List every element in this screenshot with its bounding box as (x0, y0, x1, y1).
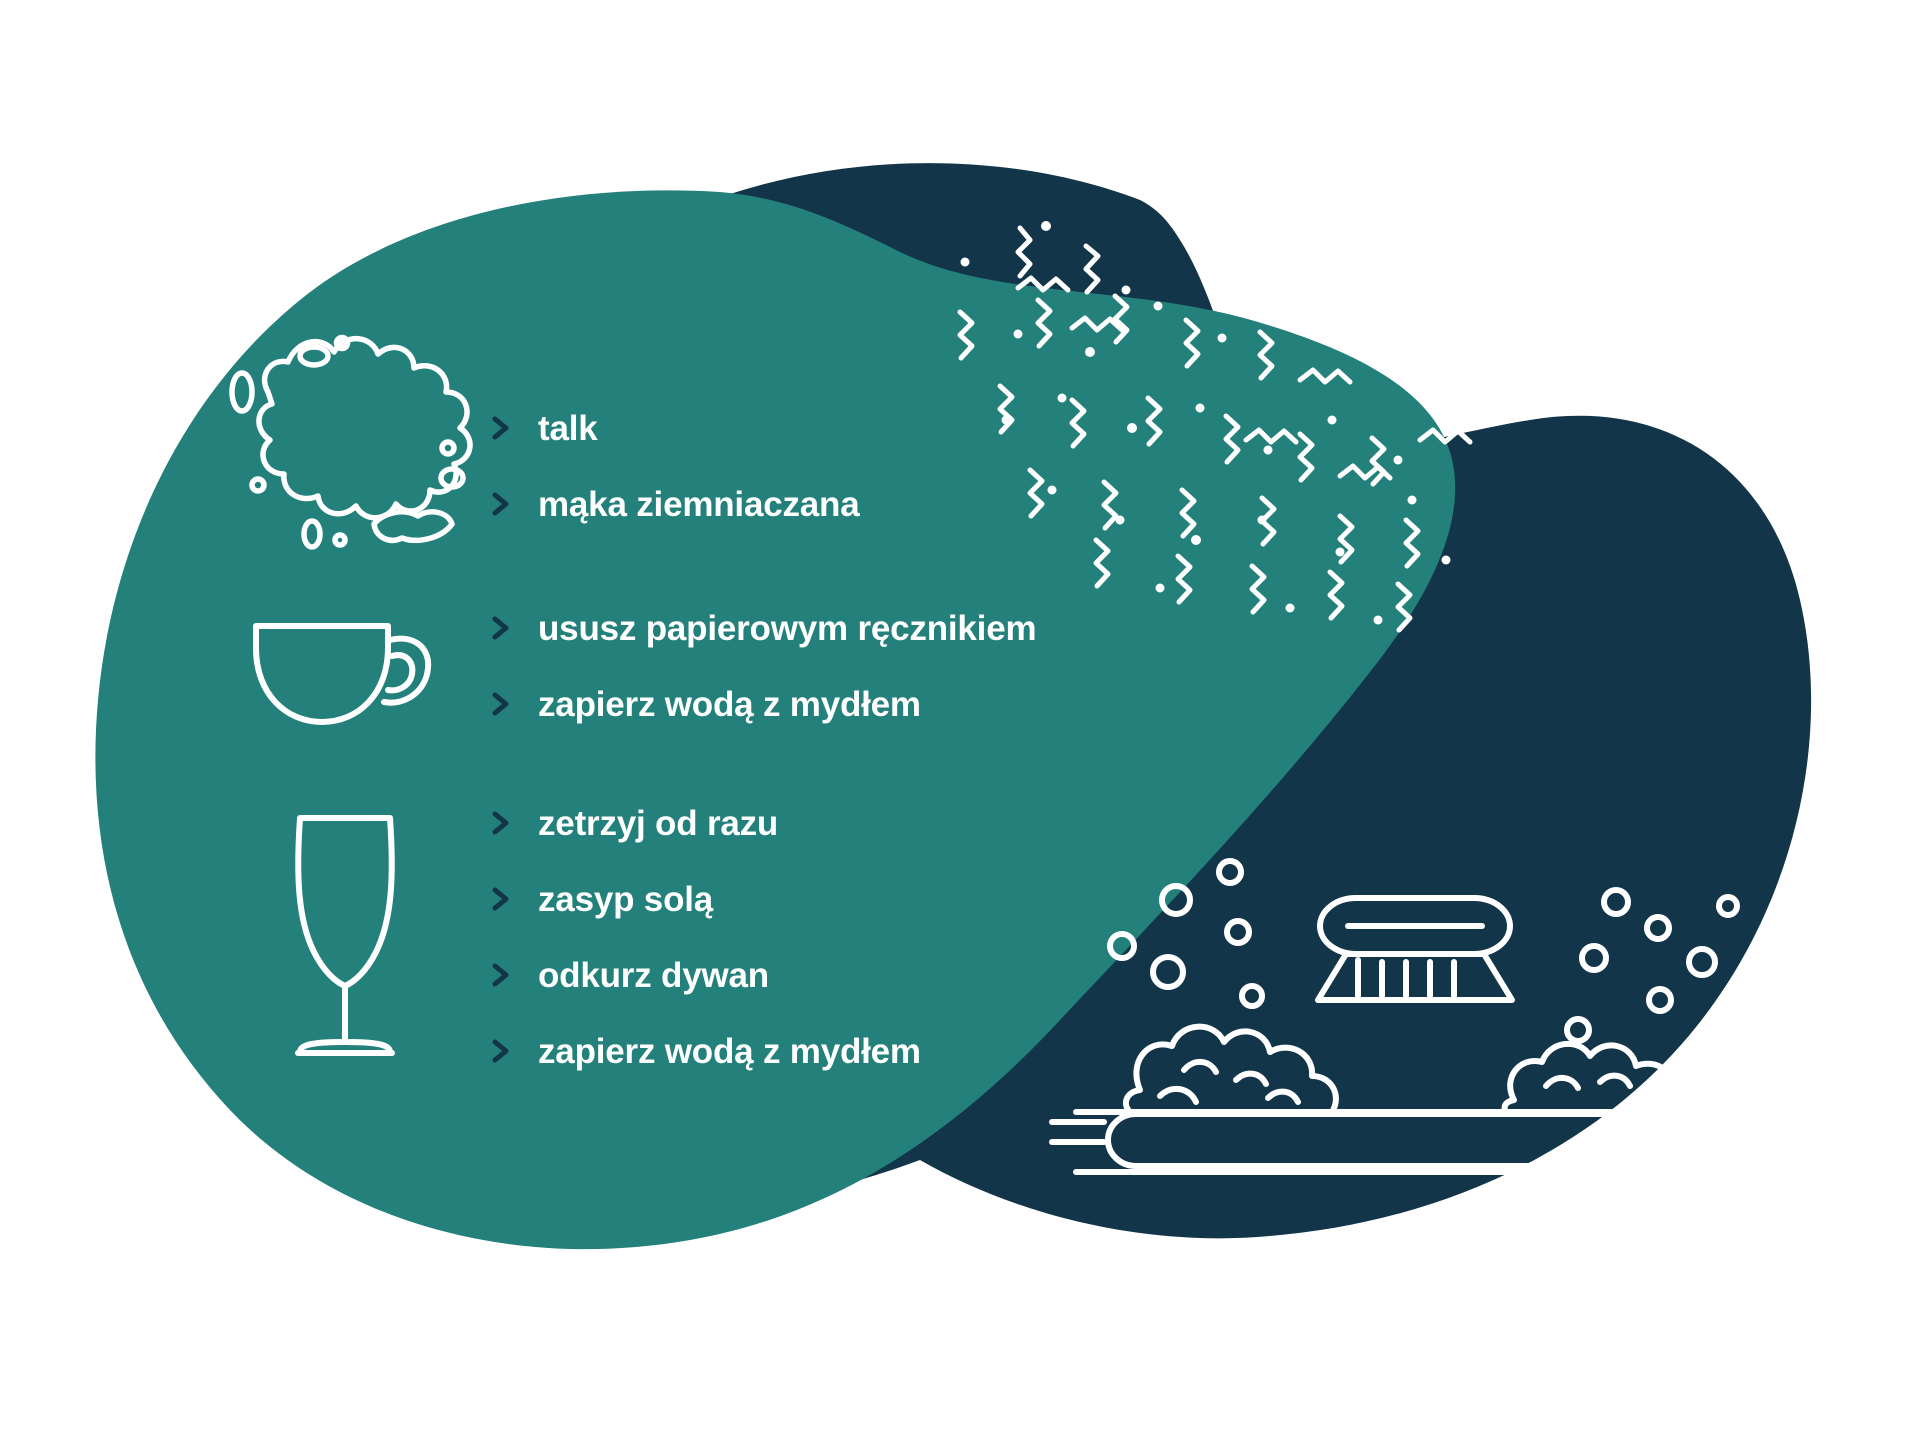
list-item-label: talk (538, 411, 598, 446)
infographic-canvas: talk mąka ziemniaczana ususz papierowym … (0, 0, 1920, 1455)
list-item-label: zetrzyj od razu (538, 806, 778, 841)
chevron-right-icon (486, 960, 516, 990)
list-powder-group: talk mąka ziemniaczana (486, 390, 860, 542)
chevron-right-icon (486, 413, 516, 443)
list-item-label: zapierz wodą z mydłem (538, 1034, 921, 1069)
list-item[interactable]: talk (486, 390, 860, 466)
list-item[interactable]: zapierz wodą z mydłem (486, 666, 1036, 742)
list-item[interactable]: ususz papierowym ręcznikiem (486, 590, 1036, 666)
list-item[interactable]: zapierz wodą z mydłem (486, 1013, 921, 1089)
list-item-label: mąka ziemniaczana (538, 487, 860, 522)
chevron-right-icon (486, 884, 516, 914)
list-item-label: ususz papierowym ręcznikiem (538, 611, 1036, 646)
list-item-label: zapierz wodą z mydłem (538, 687, 921, 722)
chevron-right-icon (486, 689, 516, 719)
chevron-right-icon (486, 613, 516, 643)
chevron-right-icon (486, 1036, 516, 1066)
list-wine-group: zetrzyj od razu zasyp solą odkurz dywan … (486, 785, 921, 1089)
list-item[interactable]: mąka ziemniaczana (486, 466, 860, 542)
list-item-label: odkurz dywan (538, 958, 769, 993)
list-item-label: zasyp solą (538, 882, 713, 917)
content-overlay: talk mąka ziemniaczana ususz papierowym … (0, 0, 1920, 1455)
list-coffee-group: ususz papierowym ręcznikiem zapierz wodą… (486, 590, 1036, 742)
list-item[interactable]: zetrzyj od razu (486, 785, 921, 861)
chevron-right-icon (486, 489, 516, 519)
list-item[interactable]: zasyp solą (486, 861, 921, 937)
chevron-right-icon (486, 808, 516, 838)
list-item[interactable]: odkurz dywan (486, 937, 921, 1013)
